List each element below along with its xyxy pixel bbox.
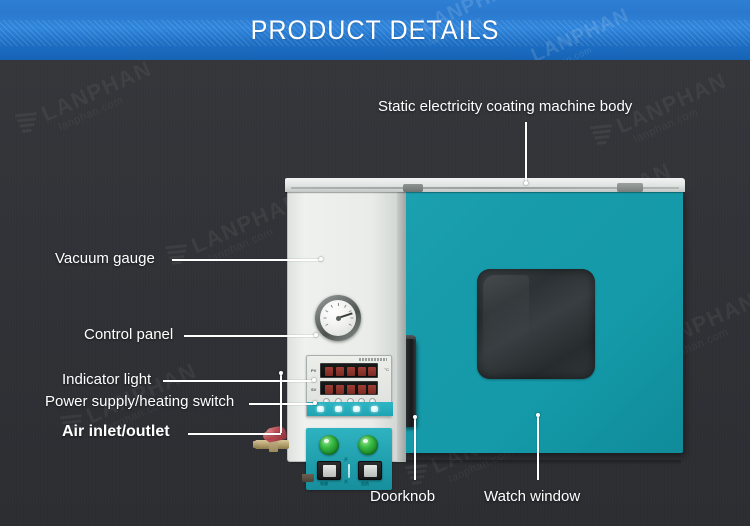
controller-brand-mark [359, 358, 387, 361]
valve-tip [253, 441, 259, 448]
leader-line-air-inlet-h [188, 433, 281, 435]
switch-divider [348, 464, 350, 478]
callout-label-machine-body: Static electricity coating machine body [378, 98, 632, 115]
power-switch-label: 电源 [320, 481, 328, 487]
callout-label-air-inlet: Air inlet/outlet [62, 423, 170, 441]
digit-segment [325, 367, 333, 376]
controller-led [335, 406, 342, 412]
oven-body-edge [397, 190, 406, 462]
gauge-tick [344, 305, 346, 308]
switch-label-on: 开 [344, 457, 348, 463]
gauge-tick [330, 305, 332, 308]
callout-label-power-switch: Power supply/heating switch [45, 393, 234, 410]
gauge-tick [323, 318, 326, 319]
leader-line-machine-body [525, 122, 527, 184]
leader-line-vacuum-gauge [172, 259, 322, 261]
leader-dot-machine-body [524, 181, 528, 185]
callout-label-watch-window: Watch window [484, 488, 580, 505]
leader-line-power-switch [249, 403, 316, 405]
oven-foot [302, 474, 314, 482]
sv-display [320, 381, 378, 395]
leader-line-air-inlet-v [280, 373, 282, 433]
watermark-1: LANPHAN lanphan.com [38, 60, 161, 137]
gauge-tick [350, 318, 353, 319]
oven-door [405, 191, 683, 453]
controller-led [371, 406, 378, 412]
callout-label-doorknob: Doorknob [370, 488, 435, 505]
heating-switch-label: 加热 [361, 481, 369, 487]
leader-dot-doorknob [413, 415, 417, 419]
gauge-tick [325, 324, 328, 326]
digit-segment [336, 367, 344, 376]
power-supply-switch[interactable] [317, 461, 341, 480]
digit-segment [358, 367, 366, 376]
controller-led [353, 406, 360, 412]
oven-top-latch-right [617, 183, 643, 192]
leader-dot-power-switch [313, 401, 317, 405]
callout-label-control-panel: Control panel [84, 326, 173, 343]
leader-dot-indicator-light [312, 378, 316, 382]
pv-label: PV [311, 368, 316, 373]
digit-segment [347, 385, 355, 394]
gauge-tick [325, 310, 328, 312]
callout-label-vacuum-gauge: Vacuum gauge [55, 250, 155, 267]
pv-display [320, 363, 378, 378]
gauge-tick [348, 324, 351, 326]
page-header: LANPHAN lanphan.com LANPHAN lanphan.com … [0, 0, 750, 60]
leader-line-watch-window [537, 416, 539, 480]
rocker-key [323, 465, 336, 477]
vacuum-gauge-face [320, 300, 356, 336]
digit-segment [368, 385, 376, 394]
temperature-unit-label: °C [385, 367, 390, 372]
sv-label: SV [311, 387, 316, 392]
digit-segment [347, 367, 355, 376]
page-title: PRODUCT DETAILS [26, 0, 724, 60]
leader-dot-air-inlet [279, 371, 283, 375]
leader-line-control-panel [184, 335, 317, 337]
leader-line-indicator-light [163, 380, 315, 382]
indicator-light-power [319, 435, 339, 455]
digit-segment [336, 385, 344, 394]
leader-dot-vacuum-gauge [319, 257, 323, 261]
watch-window-glare [483, 275, 529, 375]
digit-segment [358, 385, 366, 394]
vacuum-gauge [315, 295, 361, 341]
content-stage: LANPHAN lanphan.com LANPHAN lanphan.com … [0, 60, 750, 526]
oven-top-lid [285, 178, 685, 192]
controller-teal-strip [307, 402, 393, 416]
leader-dot-control-panel [314, 333, 318, 337]
digit-segment [368, 367, 376, 376]
heating-switch[interactable] [358, 461, 382, 480]
indicator-light-heating [358, 435, 378, 455]
gauge-tick [338, 303, 339, 306]
digit-segment [325, 385, 333, 394]
oven-top-latch-left [403, 184, 423, 192]
product-image: PV SV °C [285, 178, 685, 476]
leader-dot-watch-window [536, 413, 540, 417]
control-panel[interactable]: PV SV °C [306, 355, 392, 417]
callout-label-indicator-light: Indicator light [62, 371, 151, 388]
oven-body: PV SV °C [287, 190, 405, 462]
rocker-key [364, 465, 377, 477]
vacuum-gauge-hub [336, 316, 341, 321]
leader-line-doorknob [414, 418, 416, 480]
switch-panel[interactable]: 开 关 电源 加热 [306, 428, 392, 490]
switch-label-off: 关 [344, 479, 348, 485]
controller-led [317, 406, 324, 412]
